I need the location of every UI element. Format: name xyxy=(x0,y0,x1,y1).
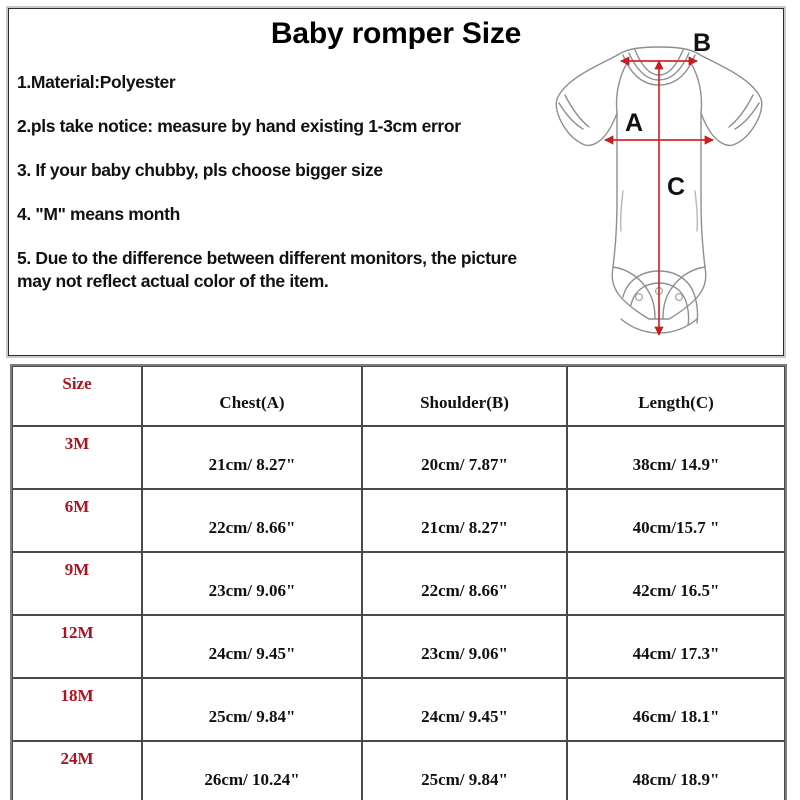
body-crease-right xyxy=(695,191,697,231)
info-panel: Baby romper Size 1.Material:Polyester 2.… xyxy=(8,8,784,356)
snap-button-left xyxy=(636,294,643,301)
row-chest-24m: 26cm/ 10.24" xyxy=(142,741,362,800)
row-length-12m: 44cm/ 17.3" xyxy=(567,615,785,678)
row-shoulder-18m: 24cm/ 9.45" xyxy=(362,678,567,741)
row-size-6m: 6M xyxy=(12,489,142,552)
note-month-meaning: 4. "M" means month xyxy=(17,203,537,226)
row-shoulder-3m: 20cm/ 7.87" xyxy=(362,426,567,489)
row-length-18m: 46cm/ 18.1" xyxy=(567,678,785,741)
row-shoulder-9m: 22cm/ 8.66" xyxy=(362,552,567,615)
size-table-body: Size Chest(A) Shoulder(B) Length(C) 3M 2… xyxy=(12,366,785,800)
note-measure-error: 2.pls take notice: measure by hand exist… xyxy=(17,115,537,138)
table-row: 12M 24cm/ 9.45" 23cm/ 9.06" 44cm/ 17.3" xyxy=(12,615,785,678)
leg-opening-left xyxy=(613,267,655,319)
row-chest-6m: 22cm/ 8.66" xyxy=(142,489,362,552)
body-crease-left xyxy=(621,191,623,231)
leg-opening-right xyxy=(663,267,705,319)
table-row: 3M 21cm/ 8.27" 20cm/ 7.87" 38cm/ 14.9" xyxy=(12,426,785,489)
note-material: 1.Material:Polyester xyxy=(17,71,537,94)
row-shoulder-24m: 25cm/ 9.84" xyxy=(362,741,567,800)
header-size: Size xyxy=(12,366,142,426)
table-row: 9M 23cm/ 9.06" 22cm/ 8.66" 42cm/ 16.5" xyxy=(12,552,785,615)
shoulder-seam-right xyxy=(691,63,702,113)
romper-diagram: B A C xyxy=(543,23,775,343)
row-size-3m: 3M xyxy=(12,426,142,489)
notes-list: 1.Material:Polyester 2.pls take notice: … xyxy=(17,71,537,293)
row-shoulder-6m: 21cm/ 8.27" xyxy=(362,489,567,552)
dimension-arrows-group xyxy=(605,61,713,335)
table-row: 6M 22cm/ 8.66" 21cm/ 8.27" 40cm/15.7 " xyxy=(12,489,785,552)
row-size-18m: 18M xyxy=(12,678,142,741)
shoulder-seam-left xyxy=(616,63,627,113)
snap-button-right xyxy=(676,294,683,301)
row-length-9m: 42cm/ 16.5" xyxy=(567,552,785,615)
sleeve-cuff-left xyxy=(559,95,589,129)
header-chest: Chest(A) xyxy=(142,366,362,426)
size-table: Size Chest(A) Shoulder(B) Length(C) 3M 2… xyxy=(10,364,787,800)
row-shoulder-12m: 23cm/ 9.06" xyxy=(362,615,567,678)
header-length: Length(C) xyxy=(567,366,785,426)
row-length-3m: 38cm/ 14.9" xyxy=(567,426,785,489)
header-shoulder: Shoulder(B) xyxy=(362,366,567,426)
table-row: 18M 25cm/ 9.84" 24cm/ 9.45" 46cm/ 18.1" xyxy=(12,678,785,741)
dimension-label-c: C xyxy=(667,173,685,201)
row-size-12m: 12M xyxy=(12,615,142,678)
table-row: 24M 26cm/ 10.24" 25cm/ 9.84" 48cm/ 18.9" xyxy=(12,741,785,800)
dimension-label-b: B xyxy=(693,29,711,57)
note-chubby: 3. If your baby chubby, pls choose bigge… xyxy=(17,159,537,182)
row-chest-18m: 25cm/ 9.84" xyxy=(142,678,362,741)
row-chest-3m: 21cm/ 8.27" xyxy=(142,426,362,489)
size-chart-page: Baby romper Size 1.Material:Polyester 2.… xyxy=(0,0,800,800)
row-size-24m: 24M xyxy=(12,741,142,800)
note-monitor-color: 5. Due to the difference between differe… xyxy=(17,247,517,293)
row-length-6m: 40cm/15.7 " xyxy=(567,489,785,552)
row-length-24m: 48cm/ 18.9" xyxy=(567,741,785,800)
row-chest-9m: 23cm/ 9.06" xyxy=(142,552,362,615)
row-chest-12m: 24cm/ 9.45" xyxy=(142,615,362,678)
row-size-9m: 9M xyxy=(12,552,142,615)
dimension-label-a: A xyxy=(625,109,643,137)
sleeve-cuff-right xyxy=(729,95,759,129)
table-header-row: Size Chest(A) Shoulder(B) Length(C) xyxy=(12,366,785,426)
